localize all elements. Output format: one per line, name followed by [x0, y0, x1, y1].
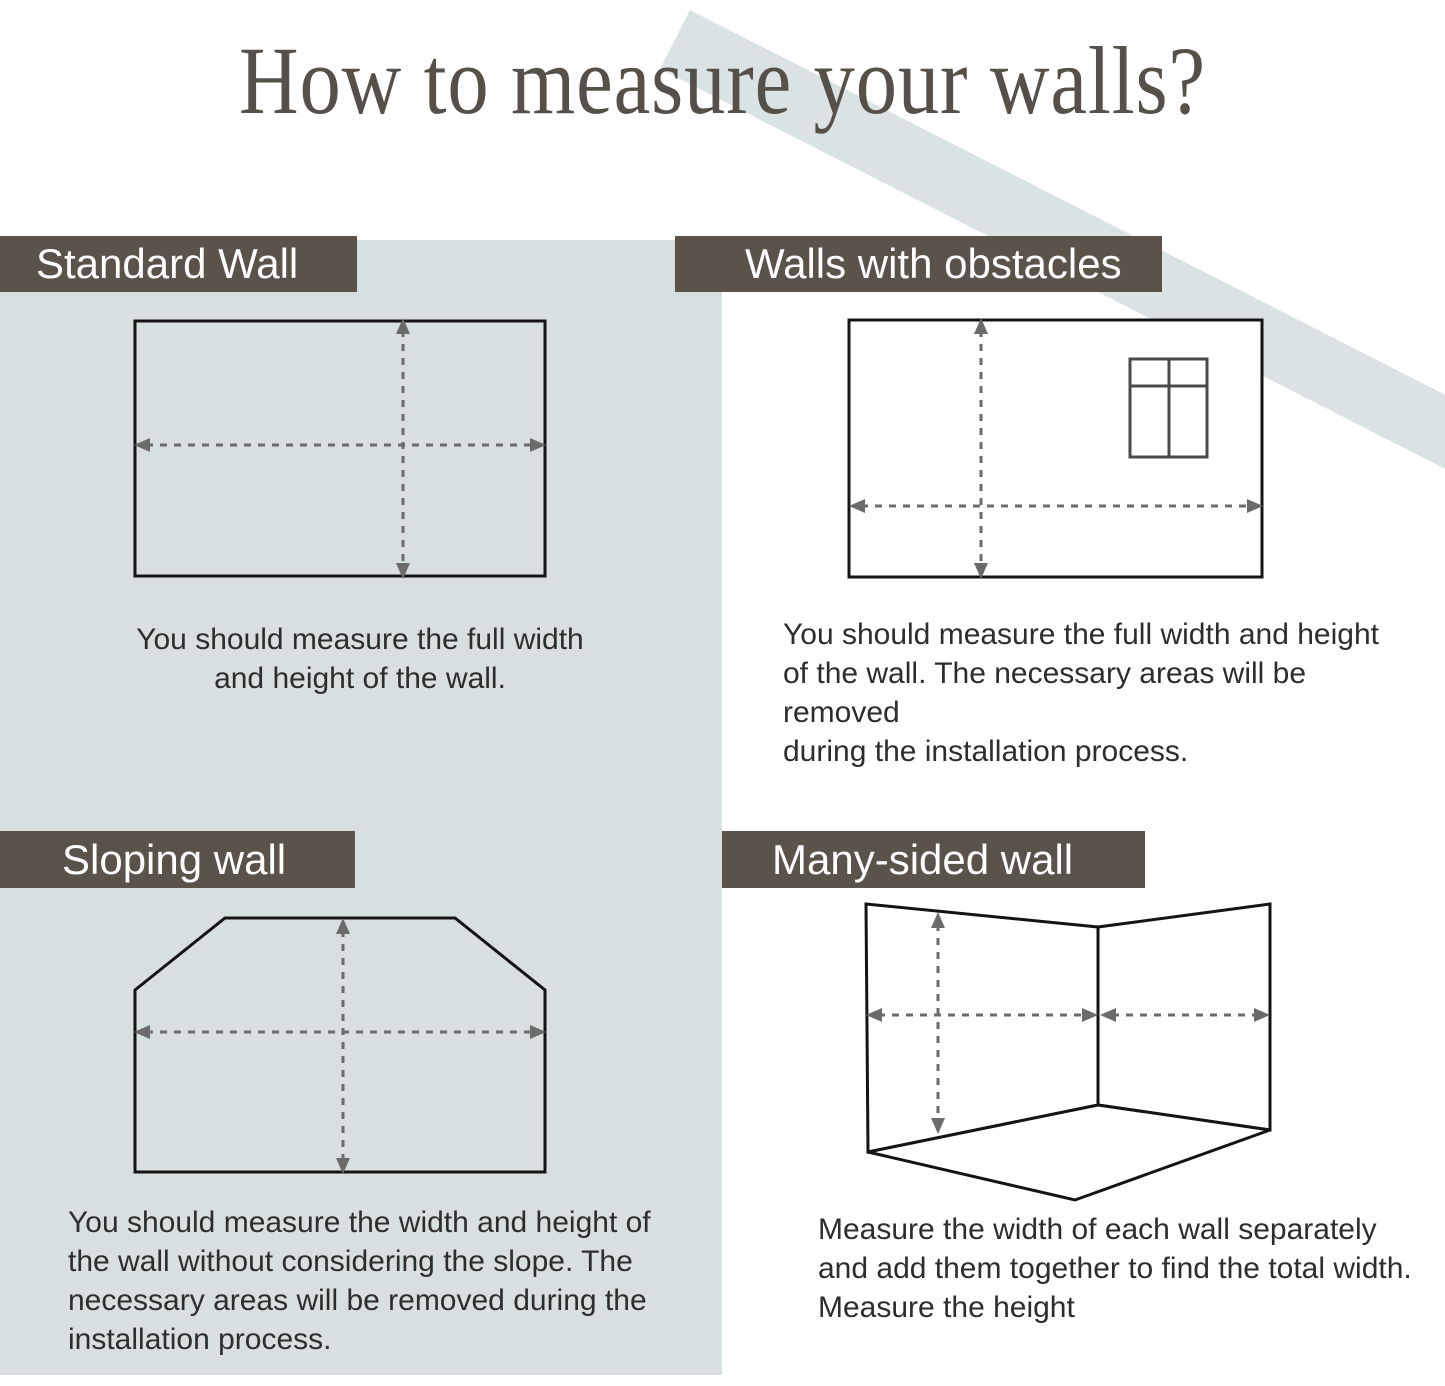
section-header-walls-with-obstacles: Walls with obstacles [675, 236, 1162, 292]
caption-walls-with-obstacles: You should measure the full width and he… [783, 615, 1423, 771]
diagram-many-sided-wall [850, 890, 1300, 1220]
diagram-standard-wall [120, 300, 570, 600]
section-header-label: Many-sided wall [772, 839, 1073, 881]
right-wall-face [1098, 904, 1270, 1130]
infographic-page: How to measure your walls? Standard Wall… [0, 0, 1445, 1386]
sloped-wall-polygon [135, 918, 545, 1172]
section-header-sloping-wall: Sloping wall [0, 831, 355, 888]
caption-many-sided-wall: Measure the width of each wall separatel… [818, 1210, 1428, 1327]
page-title: How to measure your walls? [101, 26, 1344, 136]
section-header-label: Walls with obstacles [745, 243, 1122, 285]
diagram-walls-with-obstacles [830, 300, 1290, 600]
caption-sloping-wall: You should measure the width and height … [68, 1203, 668, 1359]
height-arrow-top [336, 918, 350, 934]
section-header-label: Standard Wall [36, 243, 298, 285]
section-header-standard-wall: Standard Wall [0, 236, 357, 292]
diagram-sloping-wall [120, 900, 570, 1190]
caption-standard-wall: You should measure the full width and he… [60, 620, 660, 698]
section-header-many-sided-wall: Many-sided wall [722, 831, 1145, 888]
section-header-label: Sloping wall [62, 839, 286, 881]
wall-rectangle [135, 321, 545, 576]
